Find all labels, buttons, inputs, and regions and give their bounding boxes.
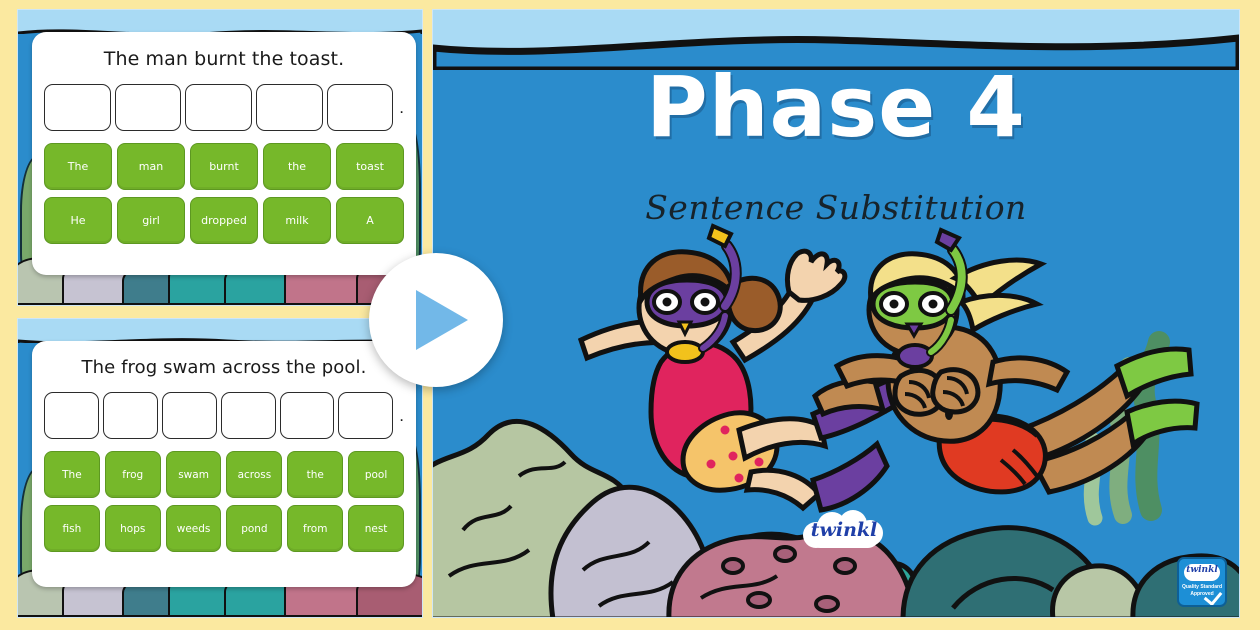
answer-slot[interactable] [327,84,394,131]
slide-thumbnail-1[interactable]: The man burnt the toast. . The man burnt… [17,9,423,306]
page-subtitle: Sentence Substitution [433,188,1239,227]
word-tile[interactable]: burnt [190,143,258,190]
answer-slot[interactable] [185,84,252,131]
word-tile[interactable]: toast [336,143,404,190]
answer-slot[interactable] [103,392,158,439]
full-stop: . [397,85,404,130]
sentence-text: The man burnt the toast. [44,48,404,70]
word-tile[interactable]: girl [117,197,185,244]
slide-thumbnail-2[interactable]: The frog swam across the pool. . The fro… [17,318,423,618]
main-slide-preview[interactable]: Phase 4 Sentence Substitution twinkl twi… [432,9,1240,618]
word-tile[interactable]: The [44,143,112,190]
word-tile[interactable]: dropped [190,197,258,244]
word-tile[interactable]: A [336,197,404,244]
activity-card: The man burnt the toast. . The man burnt… [32,32,416,275]
word-tile-row: The man burnt the toast [44,143,404,190]
word-tile[interactable]: fish [44,505,100,552]
screenshot-root: The man burnt the toast. . The man burnt… [0,0,1260,630]
answer-slot[interactable] [338,392,393,439]
twinkl-logo: twinkl [799,508,889,550]
sentence-text: The frog swam across the pool. [44,357,404,378]
word-tile[interactable]: milk [263,197,331,244]
word-tile-row: The frog swam across the pool [44,451,404,498]
word-tile-row: fish hops weeds pond from nest [44,505,404,552]
word-tile[interactable]: swam [166,451,222,498]
word-tile[interactable]: The [44,451,100,498]
word-tile[interactable]: hops [105,505,161,552]
word-tile[interactable]: pond [226,505,282,552]
answer-slot[interactable] [280,392,335,439]
play-icon [416,290,468,350]
word-tile[interactable]: weeds [166,505,222,552]
word-tile[interactable]: pool [348,451,404,498]
twinkl-logo-text: twinkl [799,519,889,541]
word-tile[interactable]: the [263,143,331,190]
word-tile[interactable]: from [287,505,343,552]
word-tile-row: He girl dropped milk A [44,197,404,244]
word-tile[interactable]: across [226,451,282,498]
answer-slot[interactable] [162,392,217,439]
answer-slot[interactable] [221,392,276,439]
quality-standard-badge: twinkl Quality Standard Approved [1177,557,1227,607]
word-tile[interactable]: He [44,197,112,244]
activity-card: The frog swam across the pool. . The fro… [32,341,416,587]
badge-line-1: Quality Standard [1179,584,1225,590]
word-tile[interactable]: the [287,451,343,498]
page-title: Phase 4 [433,58,1239,156]
play-button[interactable] [369,253,503,387]
answer-slot[interactable] [44,84,111,131]
word-tile[interactable]: nest [348,505,404,552]
answer-slot[interactable] [115,84,182,131]
answer-slot-row: . [44,84,404,131]
answer-slot[interactable] [256,84,323,131]
answer-slot-row: . [44,392,404,439]
full-stop: . [397,393,404,438]
answer-slot[interactable] [44,392,99,439]
badge-brand: twinkl [1179,565,1225,575]
word-tile[interactable]: man [117,143,185,190]
word-tile[interactable]: frog [105,451,161,498]
